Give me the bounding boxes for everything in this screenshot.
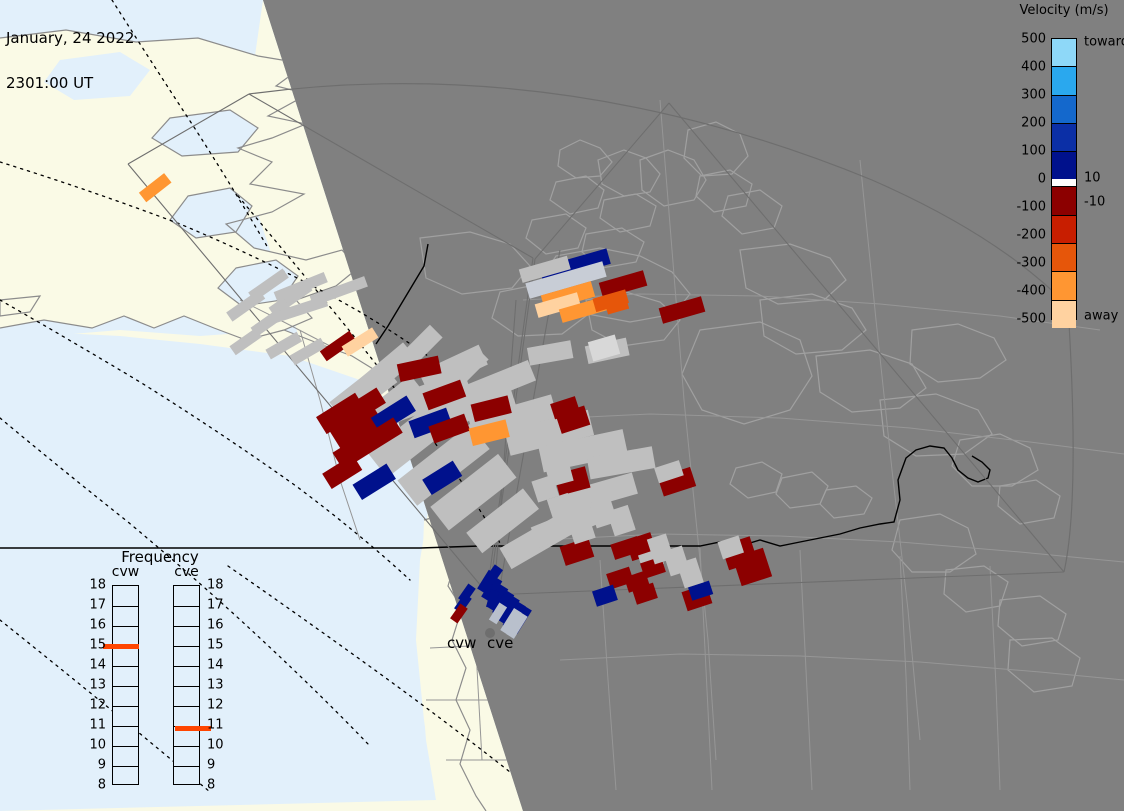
frequency-column-label-cvw: cvw	[106, 564, 145, 580]
frequency-tick-label: 15	[78, 638, 106, 653]
frequency-tick-label: 12	[78, 698, 106, 713]
frequency-tick-label: 9	[78, 758, 106, 773]
frequency-tick-label: 11	[78, 718, 106, 733]
frequency-bar-cve	[173, 585, 200, 785]
colorbar-segment	[1052, 95, 1076, 123]
colorbar-side-labels: toward10-10away	[1084, 38, 1124, 320]
frequency-tick-label: 13	[207, 678, 235, 693]
frequency-gridline	[113, 666, 138, 667]
colorbar-segment	[1052, 271, 1076, 299]
plot-timestamp: January, 24 2022 2301:00 UT	[6, 1, 134, 121]
colorbar-side-label: toward	[1084, 35, 1124, 50]
colorbar-segment	[1052, 123, 1076, 151]
colorbar-tick-label: 400	[1021, 60, 1046, 75]
site-label-cve: cve	[487, 634, 513, 652]
colorbar-tick-label: -100	[1016, 200, 1046, 215]
colorbar-side-label: -10	[1084, 195, 1105, 210]
frequency-tick-label: 17	[207, 598, 235, 613]
frequency-tick-label: 16	[207, 618, 235, 633]
frequency-tick-label: 10	[207, 738, 235, 753]
colorbar-segment	[1052, 39, 1076, 66]
frequency-marker-cve	[175, 726, 211, 731]
frequency-tick-label: 17	[78, 598, 106, 613]
colorbar-tick-label: 200	[1021, 116, 1046, 131]
velocity-colorbar: Velocity (m/s) 5004003002001000-100-200-…	[994, 0, 1124, 340]
colorbar-segment	[1052, 243, 1076, 271]
frequency-gridline	[113, 746, 138, 747]
colorbar-tick-label: 0	[1038, 172, 1046, 187]
frequency-tick-label: 16	[78, 618, 106, 633]
colorbar-gradient	[1051, 38, 1077, 320]
frequency-gridline	[174, 686, 199, 687]
frequency-gridline	[113, 726, 138, 727]
frequency-gridline	[174, 666, 199, 667]
frequency-gridline	[113, 686, 138, 687]
plot-date: January, 24 2022	[6, 31, 134, 46]
colorbar-segment	[1052, 151, 1076, 179]
colorbar-segment	[1052, 66, 1076, 94]
frequency-tick-label: 9	[207, 758, 235, 773]
frequency-tick-label: 14	[207, 658, 235, 673]
frequency-tick-label: 12	[207, 698, 235, 713]
frequency-tick-label: 8	[78, 778, 106, 793]
frequency-tick-label: 8	[207, 778, 235, 793]
frequency-gridline	[174, 766, 199, 767]
colorbar-segment	[1052, 215, 1076, 243]
site-label-cvw: cvw	[447, 634, 476, 652]
frequency-gridline	[174, 626, 199, 627]
frequency-gridline	[174, 646, 199, 647]
colorbar-tick-label: 500	[1021, 32, 1046, 47]
frequency-tick-label: 18	[78, 578, 106, 593]
colorbar-ticks: 5004003002001000-100-200-300-400-500	[994, 38, 1046, 320]
frequency-gridline	[174, 706, 199, 707]
frequency-tick-label: 18	[207, 578, 235, 593]
colorbar-tick-label: -500	[1016, 312, 1046, 327]
colorbar-tick-label: -300	[1016, 256, 1046, 271]
colorbar-title: Velocity (m/s)	[1002, 3, 1124, 18]
frequency-gridline	[113, 606, 138, 607]
frequency-bar-cvw	[112, 585, 139, 785]
colorbar-segment	[1052, 179, 1076, 186]
colorbar-tick-label: 300	[1021, 88, 1046, 103]
plot-time: 2301:00 UT	[6, 76, 134, 91]
frequency-column-label-cve: cve	[167, 564, 206, 580]
frequency-tick-label: 11	[207, 718, 235, 733]
frequency-gridline	[113, 766, 138, 767]
frequency-tick-label: 14	[78, 658, 106, 673]
colorbar-tick-label: 100	[1021, 144, 1046, 159]
colorbar-side-label: 10	[1084, 171, 1101, 186]
frequency-tick-label: 15	[207, 638, 235, 653]
frequency-gridline	[174, 606, 199, 607]
colorbar-side-label: away	[1084, 309, 1118, 324]
radar-fan-plot: January, 24 2022 2301:00 UT Velocity (m/…	[0, 0, 1124, 811]
frequency-marker-cvw	[103, 644, 139, 649]
colorbar-tick-label: -400	[1016, 284, 1046, 299]
colorbar-segment	[1052, 186, 1076, 214]
frequency-tick-label: 13	[78, 678, 106, 693]
frequency-panel: Frequency cvw18171615141312111098cve1817…	[85, 545, 270, 790]
colorbar-segment	[1052, 300, 1076, 328]
frequency-gridline	[113, 626, 138, 627]
frequency-gridline	[113, 706, 138, 707]
frequency-gridline	[174, 746, 199, 747]
colorbar-tick-label: -200	[1016, 228, 1046, 243]
frequency-tick-label: 10	[78, 738, 106, 753]
